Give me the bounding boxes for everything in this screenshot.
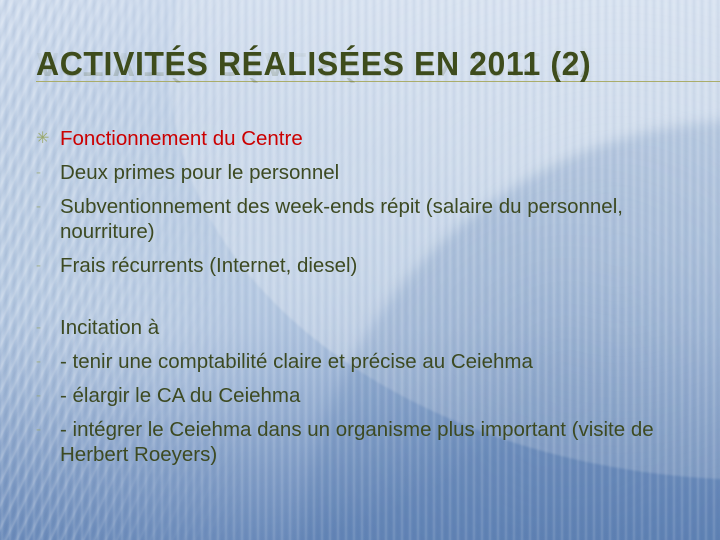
bullet-text: Frais récurrents (Internet, diesel) <box>60 253 357 278</box>
bullet-item: -Frais récurrents (Internet, diesel) <box>34 253 710 278</box>
presentation-slide: ACTIVITÉS RÉALISÉES EN 2011 (2) ACTIVITÉ… <box>0 0 720 540</box>
bullet-item: -Deux primes pour le personnel <box>34 160 710 185</box>
bullet-item: -Incitation à <box>34 315 710 340</box>
bullet-item: -- élargir le CA du Ceiehma <box>34 383 710 408</box>
paragraph-spacer <box>34 287 710 315</box>
bullet-text: Fonctionnement du Centre <box>60 126 303 151</box>
bullet-text: Subventionnement des week-ends répit (sa… <box>60 194 710 244</box>
bullet-text: - élargir le CA du Ceiehma <box>60 383 300 408</box>
slide-body-content: ✳Fonctionnement du Centre-Deux primes po… <box>34 126 710 476</box>
dash-bullet-icon: - <box>36 256 54 276</box>
bullet-item: -- intégrer le Ceiehma dans un organisme… <box>34 417 710 467</box>
bullet-item: -- tenir une comptabilité claire et préc… <box>34 349 710 374</box>
bullet-text: - tenir une comptabilité claire et préci… <box>60 349 533 374</box>
bullet-text: - intégrer le Ceiehma dans un organisme … <box>60 417 710 467</box>
page-title: ACTIVITÉS RÉALISÉES EN 2011 (2) <box>36 42 591 86</box>
dash-bullet-icon: - <box>36 318 54 338</box>
bullet-text: Incitation à <box>60 315 159 340</box>
asterisk-bullet-icon: ✳ <box>36 129 54 149</box>
slide-title-block: ACTIVITÉS RÉALISÉES EN 2011 (2) ACTIVITÉ… <box>36 42 696 118</box>
dash-bullet-icon: - <box>36 352 54 372</box>
dash-bullet-icon: - <box>36 386 54 406</box>
bullet-text: Deux primes pour le personnel <box>60 160 339 185</box>
bullet-item: -Subventionnement des week-ends répit (s… <box>34 194 710 244</box>
bullet-item: ✳Fonctionnement du Centre <box>34 126 710 151</box>
dash-bullet-icon: - <box>36 163 54 183</box>
dash-bullet-icon: - <box>36 420 54 440</box>
dash-bullet-icon: - <box>36 197 54 217</box>
